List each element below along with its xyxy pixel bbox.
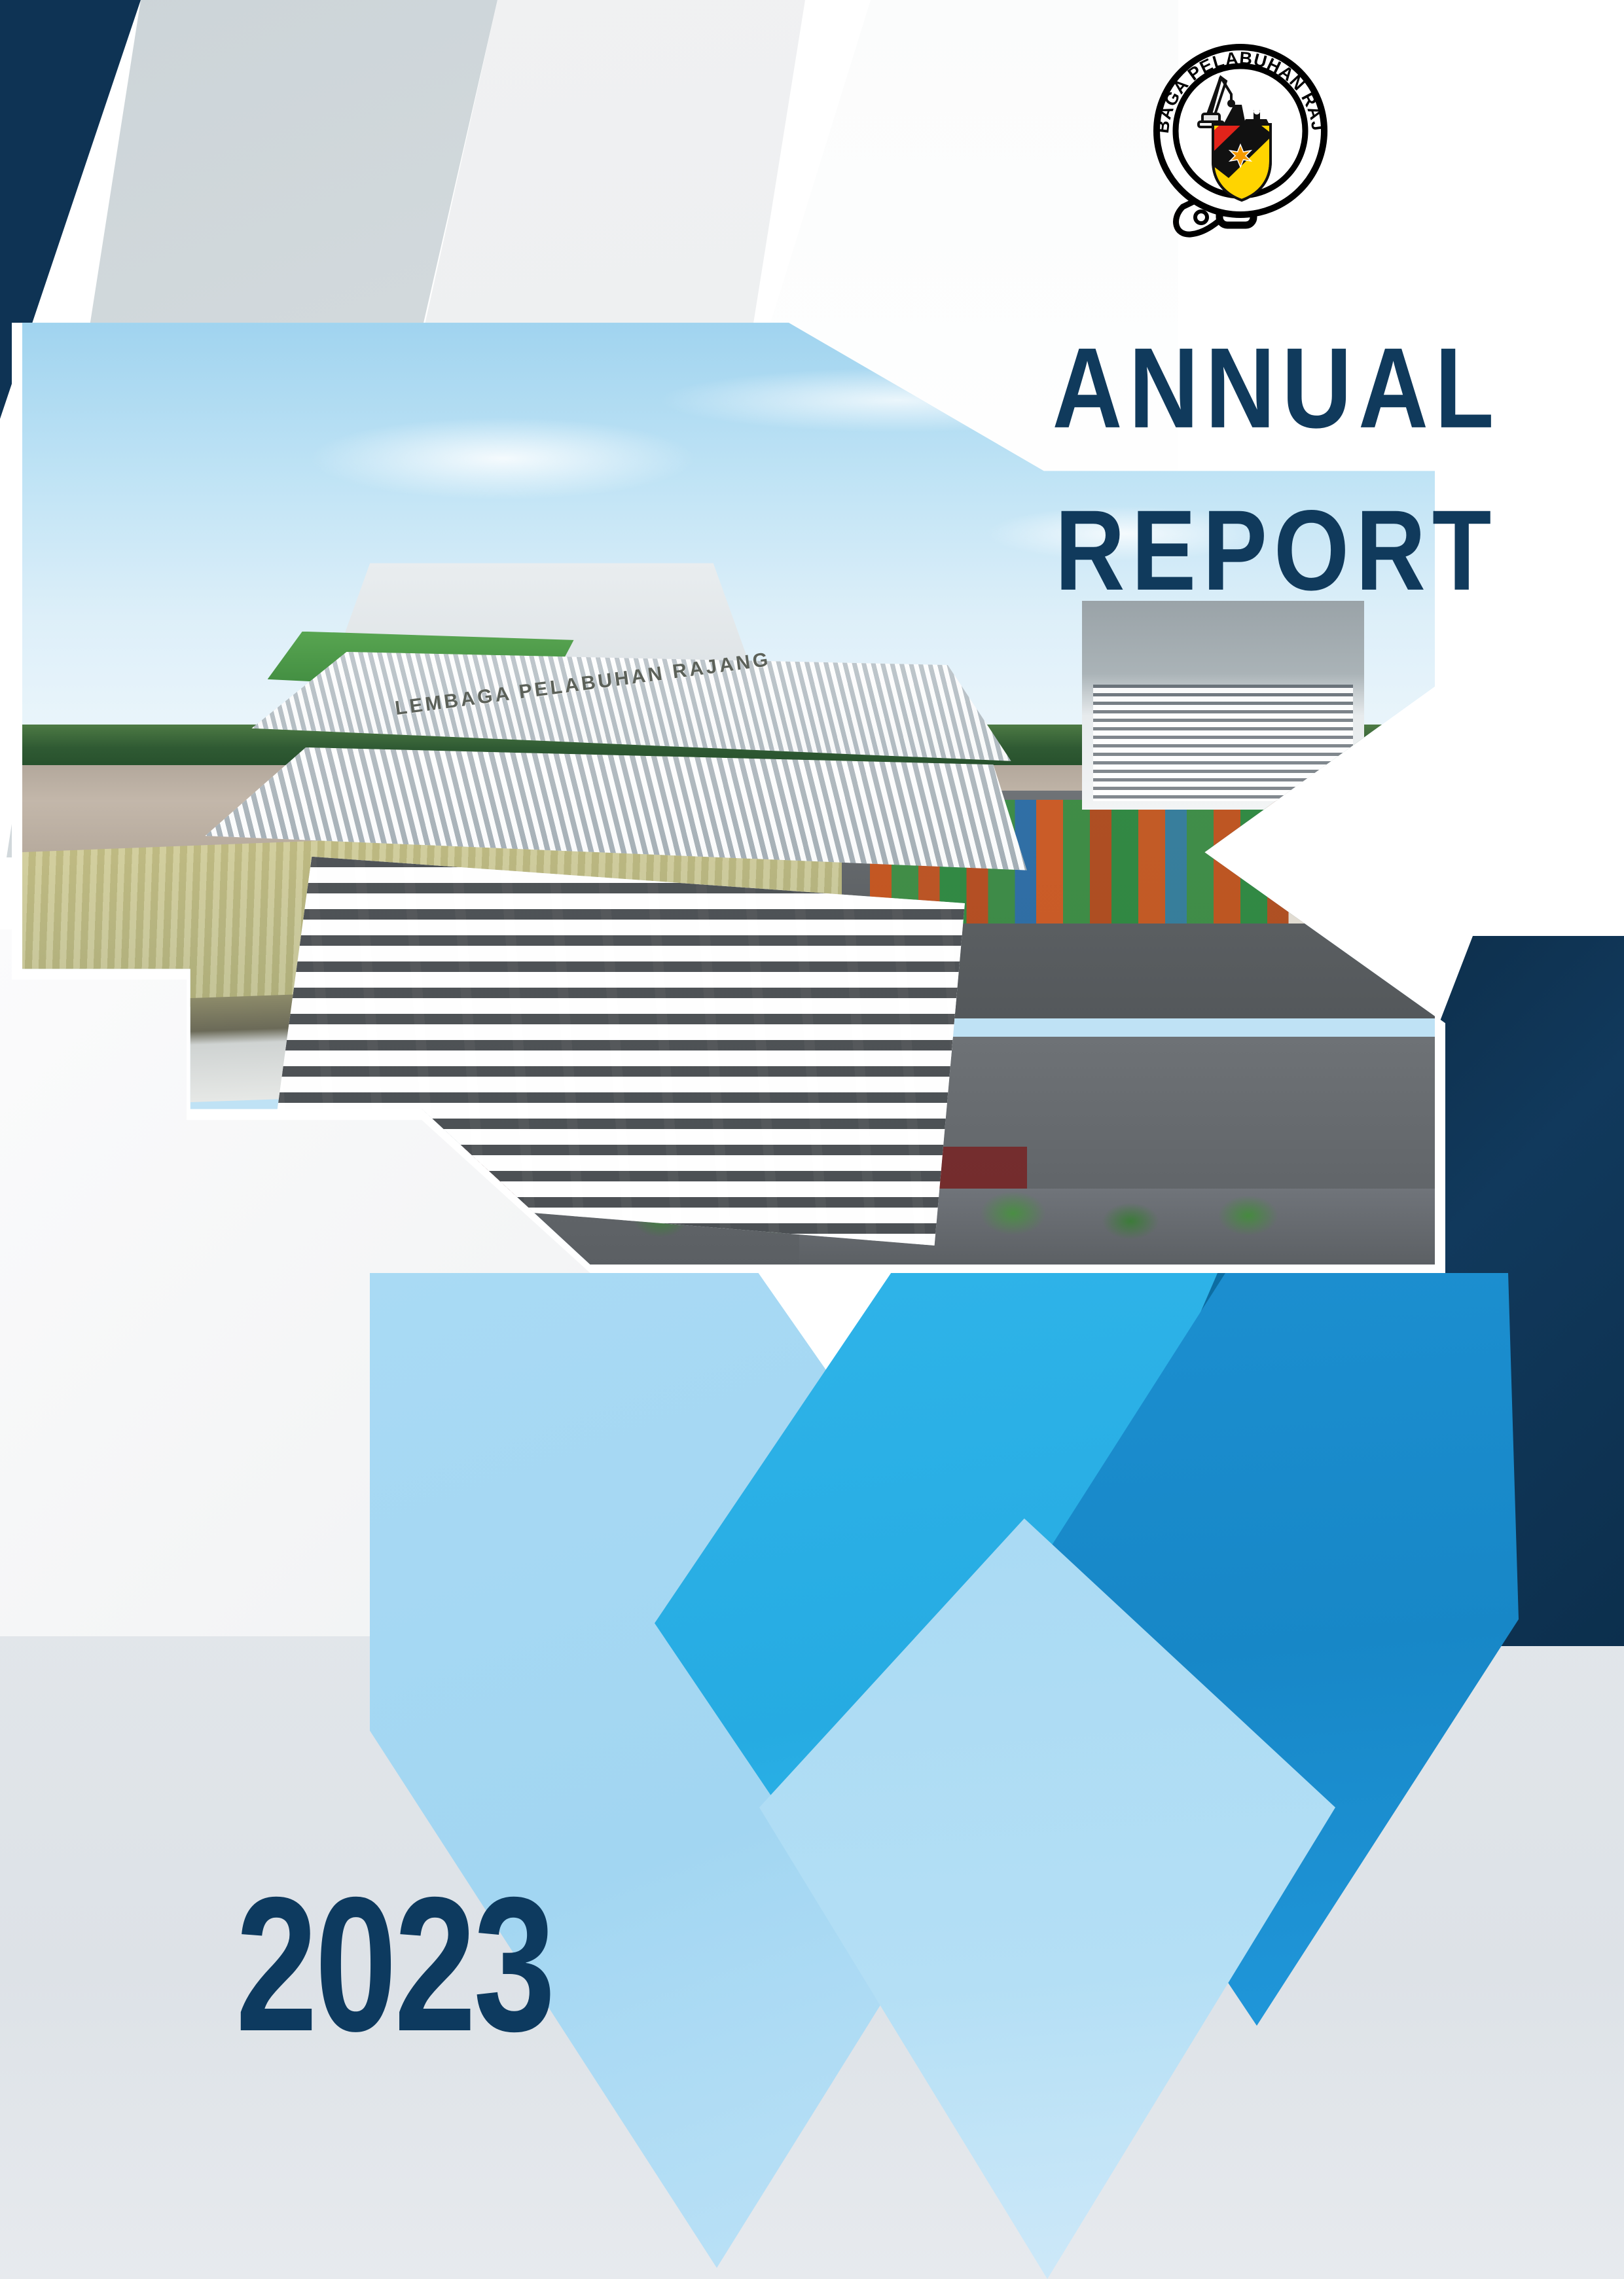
photo-background-building bbox=[1082, 601, 1365, 810]
cover-year: 2023 bbox=[236, 1869, 553, 2060]
photo-hq-lower-wing bbox=[189, 747, 1027, 870]
organization-logo: LEMBAGA PELABUHAN RAJANG bbox=[1142, 31, 1339, 241]
cover-title: ANNUAL REPORT bbox=[982, 308, 1571, 607]
title-line-report: REPORT bbox=[982, 470, 1571, 632]
title-line-annual: ANNUAL bbox=[982, 308, 1571, 470]
annual-report-cover: LEMBAGA PELABUHAN RAJANG LEMBAGA PELABUH… bbox=[0, 0, 1624, 2279]
